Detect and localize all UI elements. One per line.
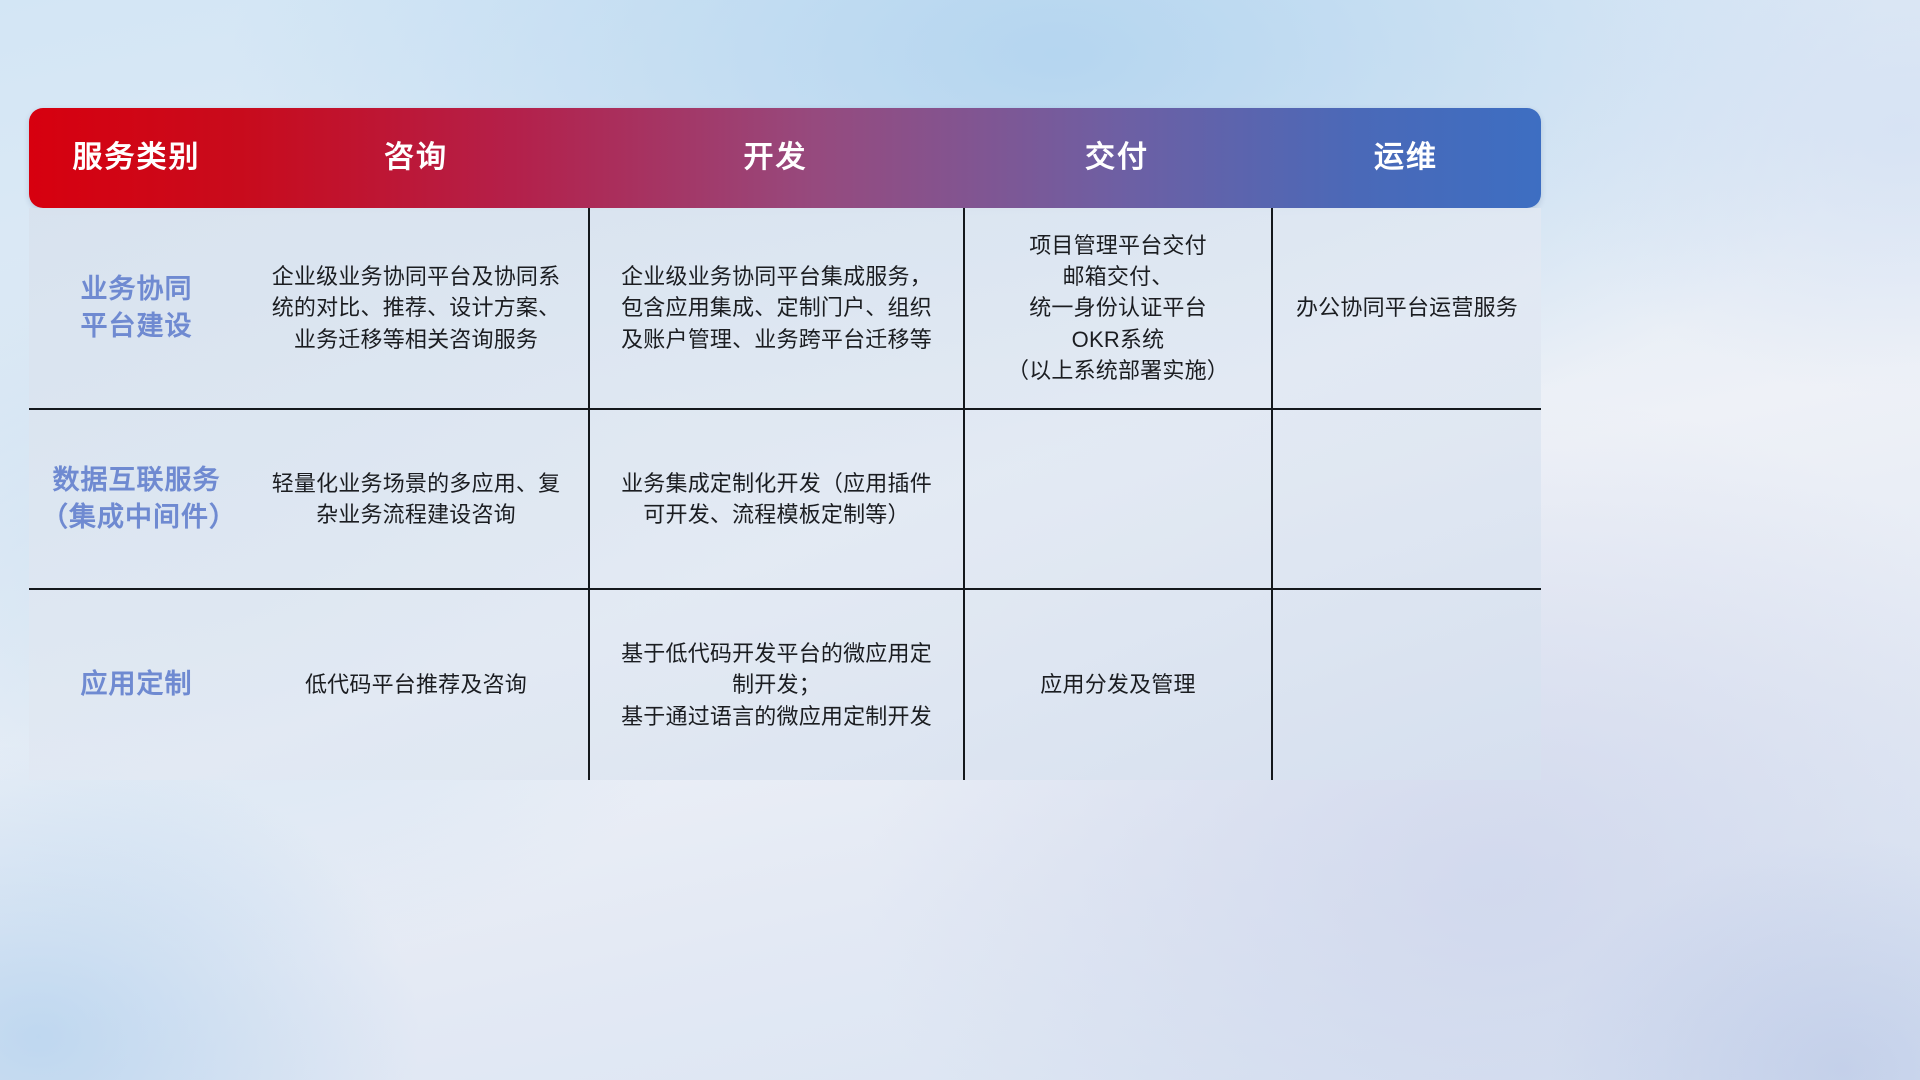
- header-label-service-category: 服务类别: [73, 141, 201, 174]
- cell-consulting-row3: 低代码平台推荐及咨询: [244, 590, 588, 780]
- cell-consulting-row2: 轻量化业务场景的多应用、复 杂业务流程建设咨询: [244, 410, 588, 588]
- cell-operations-row1: 办公协同平台运营服务: [1271, 208, 1541, 408]
- cell-text-consulting-row3: 低代码平台推荐及咨询: [305, 669, 527, 700]
- header-cell-consulting: 咨询: [244, 143, 588, 173]
- header-cell-development: 开发: [588, 143, 963, 173]
- header-label-delivery: 交付: [1085, 141, 1149, 174]
- cell-text-development-row1: 企业级业务协同平台集成服务， 包含应用集成、定制门户、组织 及账户管理、业务跨平…: [621, 261, 932, 355]
- cell-delivery-row2: [963, 410, 1271, 588]
- cell-text-development-row2: 业务集成定制化开发（应用插件 可开发、流程模板定制等）: [621, 468, 932, 530]
- table-row: 应用定制 低代码平台推荐及咨询 基于低代码开发平台的微应用定 制开发； 基于通过…: [29, 590, 1541, 780]
- category-label-row1: 业务协同 平台建设: [81, 271, 193, 346]
- cell-text-delivery-row1: 项目管理平台交付 邮箱交付、 统一身份认证平台 OKR系统 （以上系统部署实施）: [1007, 230, 1229, 386]
- cell-delivery-row1: 项目管理平台交付 邮箱交付、 统一身份认证平台 OKR系统 （以上系统部署实施）: [963, 208, 1271, 408]
- cell-category-row3: 应用定制: [29, 590, 244, 780]
- cell-text-development-row3: 基于低代码开发平台的微应用定 制开发； 基于通过语言的微应用定制开发: [621, 638, 932, 732]
- cell-operations-row3: [1271, 590, 1541, 780]
- cell-consulting-row1: 企业级业务协同平台及协同系 统的对比、推荐、设计方案、 业务迁移等相关咨询服务: [244, 208, 588, 408]
- table-row: 数据互联服务 （集成中间件） 轻量化业务场景的多应用、复 杂业务流程建设咨询 业…: [29, 410, 1541, 590]
- cell-text-operations-row1: 办公协同平台运营服务: [1296, 292, 1518, 323]
- table-header-row: 服务类别 咨询 开发 交付 运维: [29, 108, 1541, 208]
- cell-development-row1: 企业级业务协同平台集成服务， 包含应用集成、定制门户、组织 及账户管理、业务跨平…: [588, 208, 963, 408]
- slide-canvas: 服务类别 咨询 开发 交付 运维 业务协同 平台建设: [0, 0, 1920, 1080]
- cell-delivery-row3: 应用分发及管理: [963, 590, 1271, 780]
- cell-text-consulting-row2: 轻量化业务场景的多应用、复 杂业务流程建设咨询: [272, 468, 561, 530]
- header-cell-delivery: 交付: [963, 143, 1271, 173]
- table-row: 业务协同 平台建设 企业级业务协同平台及协同系 统的对比、推荐、设计方案、 业务…: [29, 208, 1541, 410]
- cell-development-row2: 业务集成定制化开发（应用插件 可开发、流程模板定制等）: [588, 410, 963, 588]
- header-cell-service-category: 服务类别: [29, 143, 244, 173]
- header-label-consulting: 咨询: [384, 141, 448, 174]
- service-matrix-table: 服务类别 咨询 开发 交付 运维 业务协同 平台建设: [29, 108, 1541, 780]
- header-label-development: 开发: [744, 141, 808, 174]
- cell-category-row2: 数据互联服务 （集成中间件）: [29, 410, 244, 588]
- header-cell-operations: 运维: [1271, 143, 1541, 173]
- category-label-row2: 数据互联服务 （集成中间件）: [41, 462, 232, 537]
- cell-category-row1: 业务协同 平台建设: [29, 208, 244, 408]
- cell-text-consulting-row1: 企业级业务协同平台及协同系 统的对比、推荐、设计方案、 业务迁移等相关咨询服务: [272, 261, 561, 355]
- table-body: 业务协同 平台建设 企业级业务协同平台及协同系 统的对比、推荐、设计方案、 业务…: [29, 208, 1541, 780]
- cell-text-delivery-row3: 应用分发及管理: [1040, 669, 1195, 700]
- header-label-operations: 运维: [1374, 141, 1438, 174]
- cell-operations-row2: [1271, 410, 1541, 588]
- category-label-row3: 应用定制: [81, 666, 193, 703]
- cell-development-row3: 基于低代码开发平台的微应用定 制开发； 基于通过语言的微应用定制开发: [588, 590, 963, 780]
